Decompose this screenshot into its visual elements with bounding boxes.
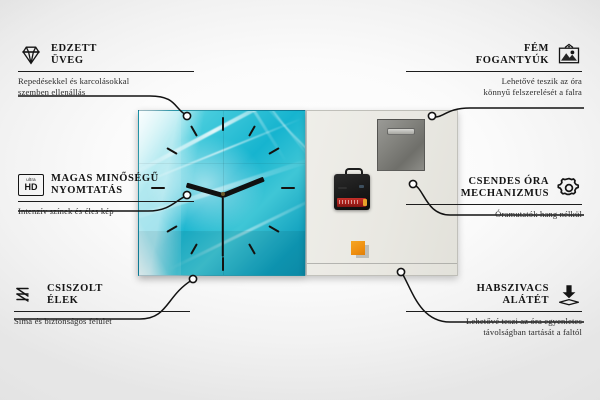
feature-title-line2: NYOMTATÁS bbox=[51, 185, 123, 196]
feature-desc-line1: Óramutatók hang nélkül bbox=[495, 209, 582, 219]
clock-tick bbox=[190, 125, 198, 136]
feature-title: EDZETT ÜVEG bbox=[51, 43, 97, 68]
feature-title-line2: FOGANTYÚK bbox=[476, 55, 549, 66]
feature-divider bbox=[18, 71, 194, 72]
gear-icon bbox=[556, 175, 582, 201]
feature-title-line1: CSISZOLT bbox=[47, 283, 103, 294]
feature-title-line1: FÉM bbox=[524, 43, 549, 54]
feature-hd-print: ultra HD MAGAS MINŐSÉGŰ NYOMTATÁS Intenz… bbox=[18, 172, 194, 217]
feature-title-line1: EDZETT bbox=[51, 43, 97, 54]
feature-desc-line1: Intenzív színek és éles kép bbox=[18, 206, 114, 216]
feature-description: Repedésekkel és karcolásokkal szemben el… bbox=[18, 76, 194, 97]
feature-title-line1: MAGAS MINŐSÉGŰ bbox=[51, 173, 159, 184]
feature-title-line2: ALÁTÉT bbox=[503, 295, 549, 306]
feature-desc-line2: könnyű felszerelését a falra bbox=[484, 87, 582, 97]
feature-title-line2: ÉLEK bbox=[47, 295, 78, 306]
feature-divider bbox=[406, 204, 582, 205]
feature-divider bbox=[14, 311, 190, 312]
feature-header: CSISZOLT ÉLEK bbox=[14, 282, 190, 308]
feature-header: ultra HD MAGAS MINŐSÉGŰ NYOMTATÁS bbox=[18, 172, 194, 198]
hanger-slot bbox=[387, 128, 415, 135]
feature-description: Lehetővé teszik az óra könnyű felszerelé… bbox=[406, 76, 582, 97]
diamond-icon bbox=[18, 42, 44, 68]
feature-foam-pad: HABSZIVACS ALÁTÉT Lehetővé teszi az óra … bbox=[406, 282, 582, 337]
clock-tick bbox=[222, 117, 224, 131]
surface-horizon-line bbox=[307, 263, 458, 264]
clock-tick bbox=[248, 125, 256, 136]
ultra-hd-badge: ultra HD bbox=[18, 174, 44, 196]
clock-tick bbox=[222, 257, 224, 271]
feature-title-line2: ÜVEG bbox=[51, 55, 84, 66]
infographic-canvas: EDZETT ÜVEG Repedésekkel és karcolásokka… bbox=[0, 0, 600, 400]
feature-title-line2: MECHANIZMUS bbox=[461, 188, 549, 199]
mechanism-chip bbox=[338, 187, 347, 189]
feature-desc-line2: távolságban tartását a faltól bbox=[483, 327, 582, 337]
second-hand bbox=[222, 195, 224, 257]
feature-polished-edges: CSISZOLT ÉLEK Sima és biztonságos felüle… bbox=[14, 282, 190, 327]
feature-silent-mechanism: CSENDES ÓRA MECHANIZMUS Óramutatók hang … bbox=[406, 175, 582, 220]
feature-title-line1: HABSZIVACS bbox=[477, 283, 549, 294]
feature-desc-line1: Lehetővé teszi az óra egyenletes bbox=[466, 316, 582, 326]
aa-battery bbox=[337, 198, 366, 207]
feature-tempered-glass: EDZETT ÜVEG Repedésekkel és karcolásokka… bbox=[18, 42, 194, 97]
battery-positive-tip bbox=[363, 199, 367, 206]
feature-title: CSENDES ÓRA MECHANIZMUS bbox=[461, 176, 549, 201]
feature-header: FÉM FOGANTYÚK bbox=[406, 42, 582, 68]
picture-hanger-icon bbox=[556, 42, 582, 68]
clock-mechanism bbox=[334, 174, 370, 210]
feature-header: CSENDES ÓRA MECHANIZMUS bbox=[406, 175, 582, 201]
feature-header: HABSZIVACS ALÁTÉT bbox=[406, 282, 582, 308]
feature-description: Intenzív színek és éles kép bbox=[18, 206, 194, 217]
clock-tick bbox=[281, 187, 295, 189]
feature-divider bbox=[18, 201, 194, 202]
feature-title: MAGAS MINŐSÉGŰ NYOMTATÁS bbox=[51, 173, 159, 198]
mechanism-chip bbox=[359, 185, 364, 188]
feature-desc-line1: Lehetővé teszik az óra bbox=[502, 76, 582, 86]
feature-title-line1: CSENDES ÓRA bbox=[469, 176, 549, 187]
feature-header: EDZETT ÜVEG bbox=[18, 42, 194, 68]
feature-description: Sima és biztonságos felület bbox=[14, 316, 190, 327]
feature-metal-handles: FÉM FOGANTYÚK Lehetővé teszik az óra kön… bbox=[406, 42, 582, 97]
feature-desc-line1: Repedésekkel és karcolásokkal bbox=[18, 76, 129, 86]
polished-edge-icon bbox=[14, 282, 40, 308]
feature-title: CSISZOLT ÉLEK bbox=[47, 283, 103, 308]
feature-title: HABSZIVACS ALÁTÉT bbox=[477, 283, 549, 308]
battery-label bbox=[339, 200, 359, 204]
hanger-plate bbox=[377, 119, 425, 171]
glass-tile-shade bbox=[139, 163, 306, 164]
feature-description: Óramutatók hang nélkül bbox=[406, 209, 582, 220]
feature-desc-line1: Sima és biztonságos felület bbox=[14, 316, 112, 326]
foam-pad bbox=[351, 241, 365, 255]
feature-divider bbox=[406, 71, 582, 72]
feature-description: Lehetővé teszi az óra egyenletes távolsá… bbox=[406, 316, 582, 337]
ultra-hd-badge-main-text: HD bbox=[25, 183, 38, 192]
clock-center-hub bbox=[221, 192, 225, 196]
feature-divider bbox=[406, 311, 582, 312]
foam-pad-icon bbox=[556, 282, 582, 308]
feature-title: FÉM FOGANTYÚK bbox=[476, 43, 549, 68]
feature-desc-line2: szemben ellenállás bbox=[18, 87, 85, 97]
ultra-hd-icon: ultra HD bbox=[18, 172, 44, 198]
